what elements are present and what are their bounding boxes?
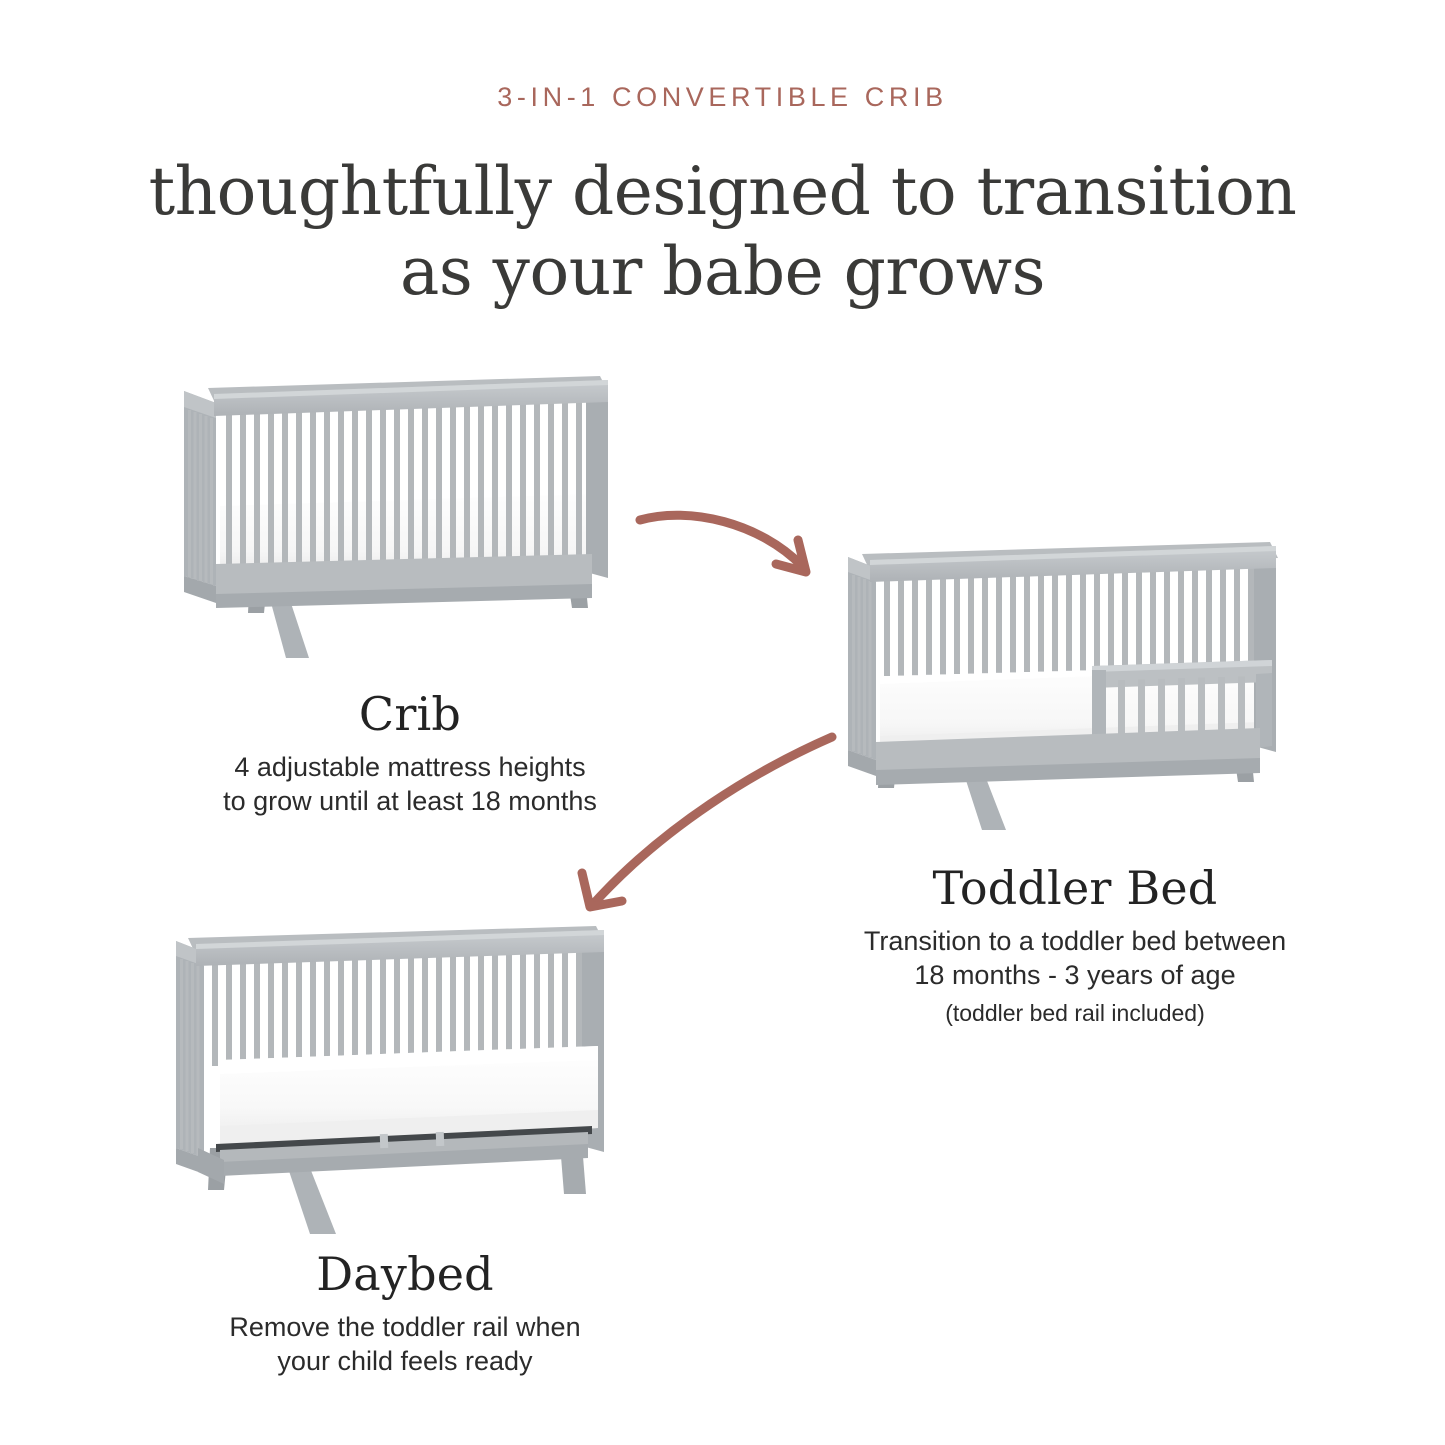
crib-product-image bbox=[168, 358, 638, 658]
daybed-left-headboard bbox=[176, 941, 204, 1174]
toddler-bed-title: Toddler Bed bbox=[790, 862, 1360, 914]
arrow-shaft-2 bbox=[596, 737, 832, 901]
crib-right-post bbox=[586, 386, 608, 578]
toddler-bed-description-line-2: 18 months - 3 years of age bbox=[790, 958, 1360, 992]
daybed-description-line-2: your child feels ready bbox=[125, 1344, 685, 1378]
infographic-canvas: 3-IN-1 CONVERTIBLE CRIB thoughtfully des… bbox=[0, 0, 1445, 1445]
page-title-line-1: thoughtfully designed to transition bbox=[0, 152, 1445, 232]
toddler-bed-description-line-1: Transition to a toddler bed between bbox=[790, 924, 1360, 958]
toddler-bed-product-image bbox=[840, 530, 1310, 830]
arrow-crib-to-toddler bbox=[630, 478, 870, 598]
toddler-bed-note: (toddler bed rail included) bbox=[790, 998, 1360, 1028]
page-title: thoughtfully designed to transition as y… bbox=[0, 152, 1445, 312]
toddler-bed-caption: Toddler Bed Transition to a toddler bed … bbox=[790, 862, 1360, 1028]
daybed-caption: Daybed Remove the toddler rail when your… bbox=[125, 1248, 685, 1378]
daybed-title: Daybed bbox=[125, 1248, 685, 1300]
daybed-description-line-1: Remove the toddler rail when bbox=[125, 1310, 685, 1344]
crib-left-end-panel bbox=[184, 391, 216, 603]
arrow-toddler-to-daybed bbox=[540, 715, 860, 935]
eyebrow-label: 3-IN-1 CONVERTIBLE CRIB bbox=[0, 82, 1445, 113]
daybed-product-image bbox=[168, 912, 638, 1242]
page-title-line-2: as your babe grows bbox=[0, 232, 1445, 312]
arrow-shaft-1 bbox=[640, 515, 802, 566]
